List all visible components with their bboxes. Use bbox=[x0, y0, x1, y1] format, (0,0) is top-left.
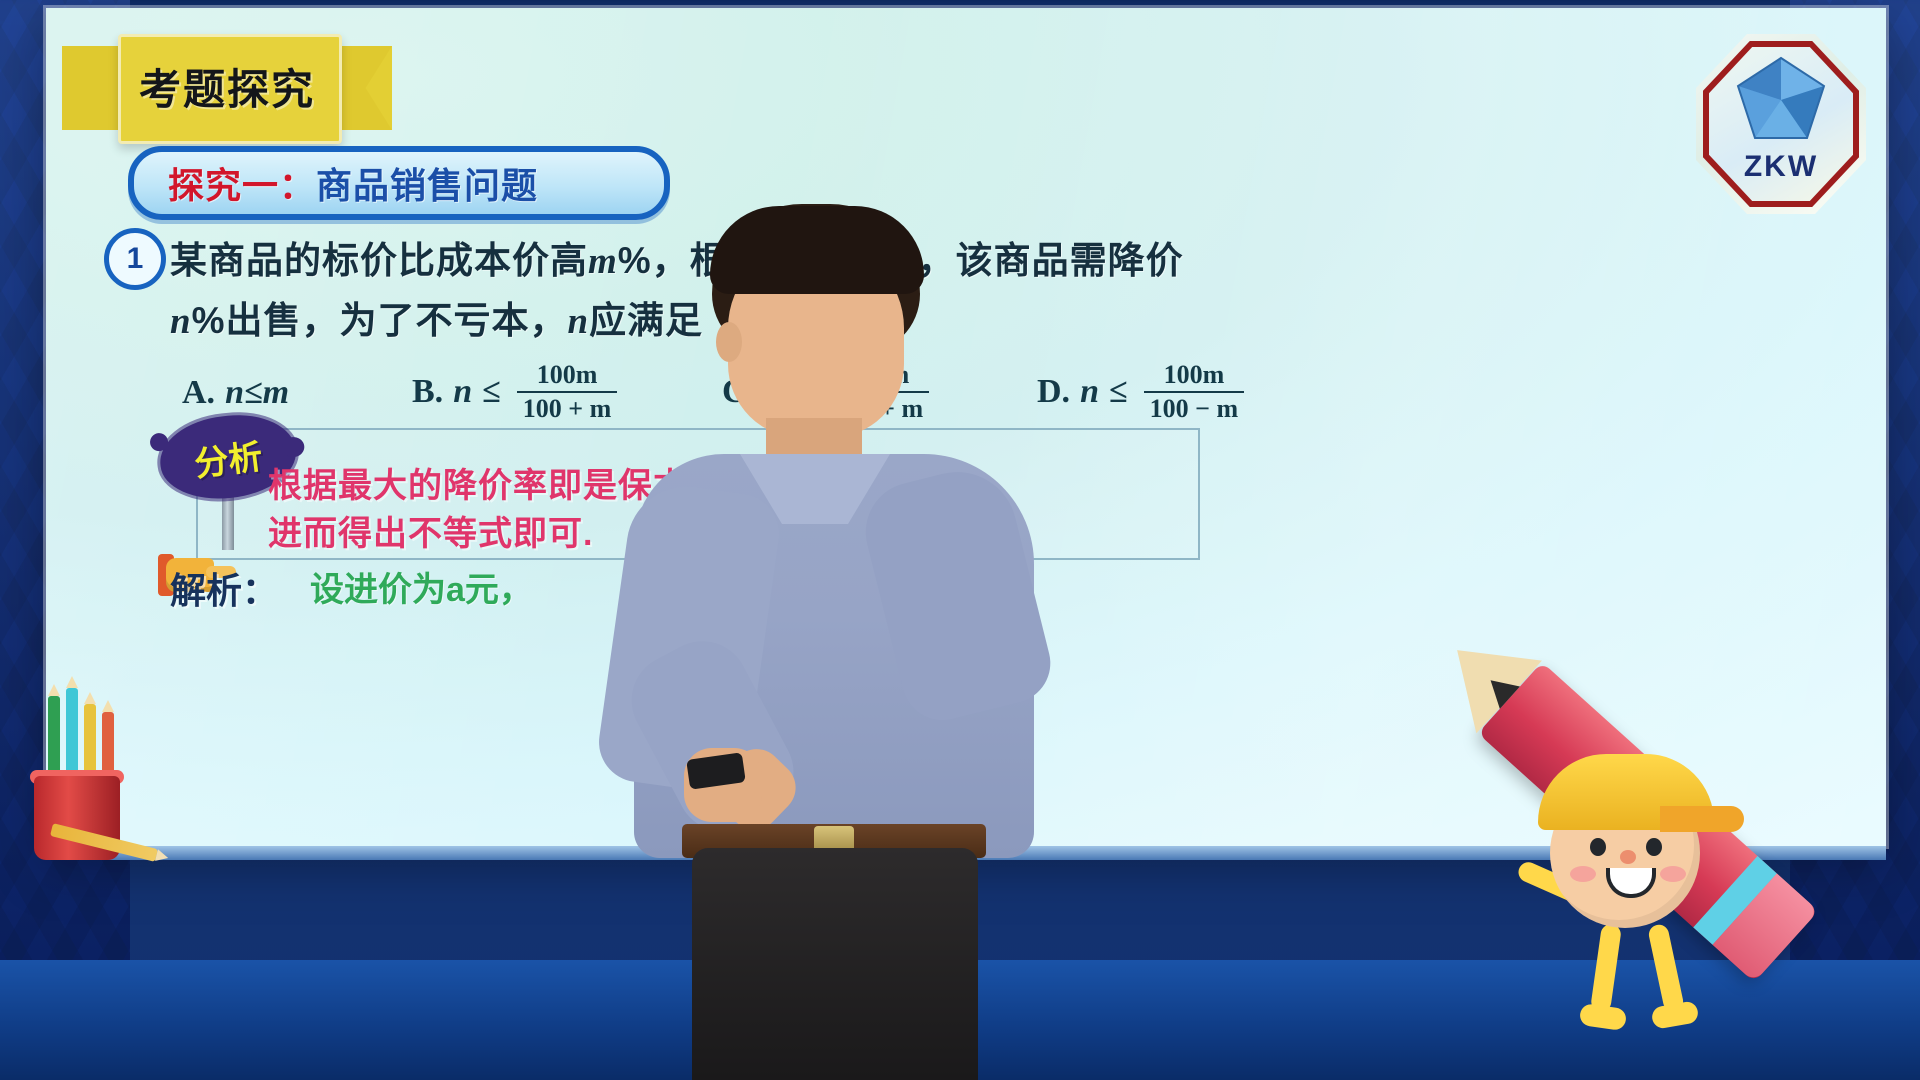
analysis-sign-pole bbox=[222, 492, 234, 550]
pencil-yellow bbox=[84, 704, 96, 778]
option-b-label: B. bbox=[412, 373, 443, 411]
option-d-relation: ≤ bbox=[1109, 373, 1128, 411]
option-d-numerator: 100m bbox=[1158, 362, 1231, 391]
section-pill-topic: 商品销售问题 bbox=[316, 157, 538, 209]
pencil-orange bbox=[102, 712, 114, 778]
zkw-logo: ZKW bbox=[1696, 34, 1866, 214]
option-a[interactable]: A. n≤m bbox=[182, 374, 289, 412]
option-d-denominator: 100 − m bbox=[1144, 391, 1244, 422]
option-d-fraction: 100m 100 − m bbox=[1144, 362, 1244, 422]
mascot-eye-right bbox=[1646, 838, 1662, 856]
option-a-expr: n≤m bbox=[225, 374, 289, 412]
option-d-var: n bbox=[1080, 373, 1099, 411]
mascot-eye-left bbox=[1590, 838, 1606, 856]
mascot-leg-right bbox=[1647, 923, 1685, 1013]
banner-title: 考题探究 bbox=[118, 34, 336, 138]
analysis-line-2: 进而得出不等式即可. bbox=[268, 506, 593, 555]
option-b-relation: ≤ bbox=[482, 373, 501, 411]
question-line2-text-b: %出售，为了不亏本， bbox=[192, 300, 568, 341]
option-a-label: A. bbox=[182, 374, 215, 412]
presenter-ear bbox=[716, 322, 742, 362]
question-var-n-2: n bbox=[567, 301, 589, 342]
polyhedron-icon bbox=[1732, 56, 1830, 148]
mascot-shoe-right bbox=[1650, 1000, 1699, 1030]
option-b[interactable]: B. n ≤ 100m 100 + m bbox=[412, 362, 617, 422]
option-b-numerator: 100m bbox=[531, 362, 604, 391]
section-pill: 探究一： 商品销售问题 bbox=[128, 146, 670, 220]
solution-text: 设进价为a元， bbox=[310, 562, 533, 611]
presenter-left-arm bbox=[594, 479, 784, 797]
mascot-cap-brim bbox=[1660, 806, 1744, 832]
pencil-mascot-icon bbox=[1484, 628, 1904, 1058]
presenter-hair-top bbox=[710, 206, 924, 294]
question-number-badge: 1 bbox=[104, 228, 166, 290]
question-var-n-1: n bbox=[170, 301, 192, 342]
question-line1-text-a: 某商品的标价比成本价高 bbox=[170, 240, 588, 281]
pencil-cyan bbox=[66, 688, 78, 780]
presenter bbox=[600, 196, 1070, 1080]
banner-ribbon: 考题探究 bbox=[62, 34, 392, 138]
presenter-trousers bbox=[692, 848, 978, 1080]
option-b-var: n bbox=[453, 373, 472, 411]
mascot-leg-left bbox=[1590, 923, 1622, 1013]
video-frame: 考题探究 探究一： 商品销售问题 1 某商品的标价比成本价高m%，根据市场行情，… bbox=[0, 0, 1920, 1080]
mascot-cheek-right bbox=[1660, 866, 1686, 882]
solution-label: 解析： bbox=[170, 562, 278, 614]
mascot-cheek-left bbox=[1570, 866, 1596, 882]
section-pill-prefix: 探究一： bbox=[134, 157, 316, 209]
mascot-nose bbox=[1620, 850, 1636, 864]
pencil-green bbox=[48, 696, 60, 778]
mascot-shoe-left bbox=[1579, 1003, 1628, 1031]
logo-text: ZKW bbox=[1696, 150, 1866, 184]
